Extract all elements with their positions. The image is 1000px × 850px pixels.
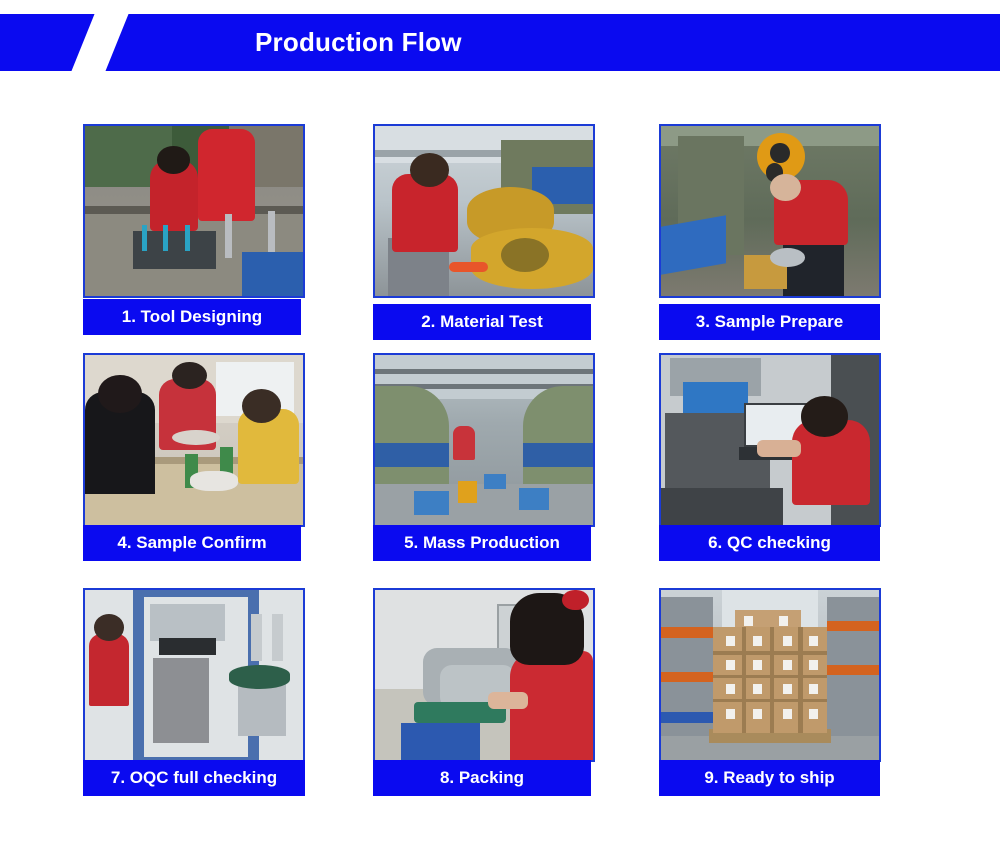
step-label-5: 5. Mass Production <box>373 525 591 561</box>
step-photo-1 <box>83 124 305 298</box>
step-photo-5 <box>373 353 595 527</box>
step-photo-2 <box>373 124 595 298</box>
step-label-1: 1. Tool Designing <box>83 299 301 335</box>
step-label-3: 3. Sample Prepare <box>659 304 880 340</box>
process-step-card-2[interactable]: 2. Material Test <box>373 124 595 298</box>
diagonal-slash-icon <box>68 14 130 71</box>
process-step-card-5[interactable]: 5. Mass Production <box>373 353 595 527</box>
process-step-card-3[interactable]: 3. Sample Prepare <box>659 124 881 298</box>
step-photo-7 <box>83 588 305 762</box>
step-label-2: 2. Material Test <box>373 304 591 340</box>
process-step-card-9[interactable]: 9. Ready to ship <box>659 588 881 762</box>
step-photo-3 <box>659 124 881 298</box>
step-photo-6 <box>659 353 881 527</box>
page-title: Production Flow <box>255 14 462 71</box>
production-flow-grid: 1. Tool Designing 2. Material Test 3. Sa… <box>0 110 1000 830</box>
process-step-card-4[interactable]: 4. Sample Confirm <box>83 353 305 527</box>
process-step-card-1[interactable]: 1. Tool Designing <box>83 124 305 298</box>
step-label-4: 4. Sample Confirm <box>83 525 301 561</box>
step-label-7: 7. OQC full checking <box>83 760 305 796</box>
page-header-banner: Production Flow <box>0 14 1000 71</box>
step-photo-8 <box>373 588 595 762</box>
process-step-card-7[interactable]: 7. OQC full checking <box>83 588 305 762</box>
step-label-8: 8. Packing <box>373 760 591 796</box>
step-photo-9 <box>659 588 881 762</box>
process-step-card-8[interactable]: 8. Packing <box>373 588 595 762</box>
step-label-9: 9. Ready to ship <box>659 760 880 796</box>
process-step-card-6[interactable]: 6. QC checking <box>659 353 881 527</box>
step-label-6: 6. QC checking <box>659 525 880 561</box>
step-photo-4 <box>83 353 305 527</box>
